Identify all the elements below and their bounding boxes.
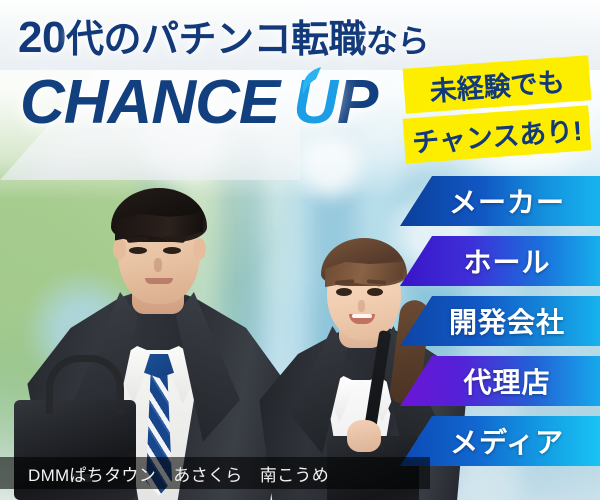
logo-word-chance: CHANCE [20,68,279,137]
category-list: メーカー ホール 開発会社 代理店 メディア [400,176,600,476]
logo-letter-p: P [337,68,377,137]
category-agency-label: 代理店 [400,361,600,401]
briefcase-handle [46,355,124,414]
category-maker-label: メーカー [400,181,600,221]
credit-bar: DMMぱちタウン あさくら 南こうめ [0,457,430,489]
category-hall-label: ホール [400,241,600,281]
man-ear-right [193,238,206,260]
man-mouth [145,278,173,284]
badge-line-2: チャンスあり! [403,105,592,164]
headline-line-1: 20代のパチンコ転職なら [18,16,448,60]
woman-hand [347,420,381,452]
chance-up-logo: CHANCEUP [20,72,377,134]
headline-tail: なら [366,23,429,59]
credit-text: DMMぱちタウン あさくら 南こうめ [0,461,329,486]
woman-eye-left [336,288,352,296]
man-nose [154,258,162,272]
headline-number: 20 [18,13,66,62]
headline-middle: 代のパチンコ転職 [66,19,366,61]
category-hall[interactable]: ホール [400,236,600,286]
man-ear-left [113,238,126,260]
woman-nose [358,300,365,312]
logo-word-up: UP [293,72,377,134]
woman-teeth [352,314,372,318]
experience-badge: 未経験でも チャンスあり! [404,58,594,162]
category-developer-label: 開発会社 [400,301,600,341]
man-eye-right [163,247,181,254]
logo-letter-u: U [293,68,337,137]
category-agency[interactable]: 代理店 [400,356,600,406]
category-maker[interactable]: メーカー [400,176,600,226]
headline-block: 20代のパチンコ転職なら [18,16,448,60]
badge-line-1: 未経験でも [403,55,592,114]
category-media[interactable]: メディア [400,416,600,466]
businessman-photo [22,150,292,500]
category-developer[interactable]: 開発会社 [400,296,600,346]
man-eye-left [129,247,147,254]
category-media-label: メディア [400,421,600,461]
promo-banner: 20代のパチンコ転職なら CHANCEUP 未経験でも チャンスあり! メーカー… [0,0,600,500]
woman-eye-right [367,288,383,296]
